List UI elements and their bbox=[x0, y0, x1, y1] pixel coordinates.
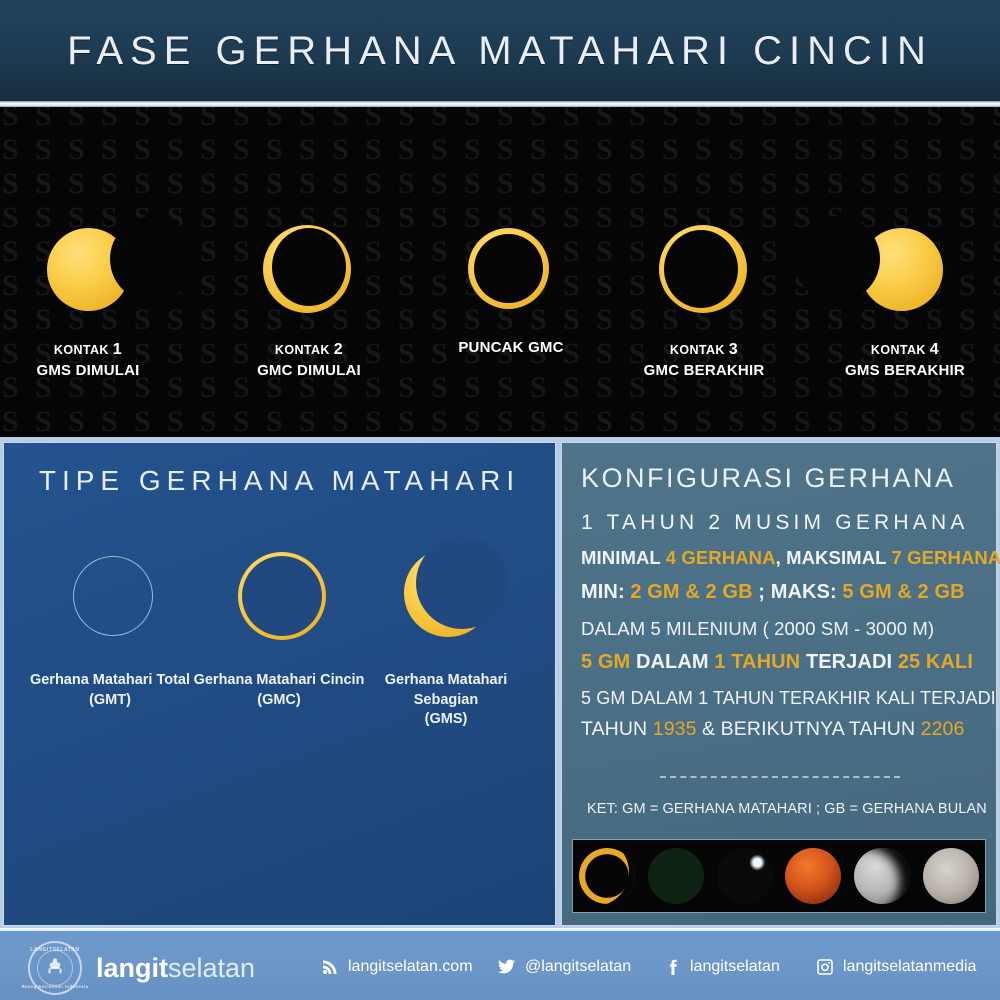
watermark-letter: S bbox=[662, 169, 679, 199]
social-instagram[interactable]: langitselatanmedia bbox=[815, 957, 976, 976]
watermark-letter: S bbox=[827, 169, 844, 199]
eclipse-type-annular-label: Gerhana Matahari Cincin (GMC) bbox=[184, 671, 374, 710]
watermark-letter: S bbox=[596, 135, 613, 165]
annular-eclipse-ring-photo bbox=[648, 848, 704, 904]
watermark-letter: S bbox=[266, 135, 283, 165]
phase-kontak-2: KONTAK 2 bbox=[219, 338, 399, 361]
watermark-letter: S bbox=[728, 407, 745, 437]
full-moon-photo bbox=[923, 848, 979, 904]
watermark-letter: S bbox=[761, 407, 778, 437]
watermark-letter: S bbox=[761, 169, 778, 199]
watermark-letter: S bbox=[992, 107, 1000, 131]
watermark-letter: S bbox=[200, 305, 217, 335]
watermark-letter: S bbox=[827, 135, 844, 165]
header-banner: FASE GERHANA MATAHARI CINCIN bbox=[0, 0, 1000, 101]
watermark-letter: S bbox=[200, 107, 217, 131]
watermark-letter: S bbox=[629, 135, 646, 165]
watermark-letter: S bbox=[860, 107, 877, 131]
watermark-letter: S bbox=[431, 407, 448, 437]
instagram-icon bbox=[815, 957, 834, 976]
watermark-letter: S bbox=[530, 407, 547, 437]
watermark-letter: S bbox=[134, 169, 151, 199]
watermark-letter: S bbox=[959, 107, 976, 131]
phase-sub-2: GMC DIMULAI bbox=[219, 361, 399, 381]
config-segment-plain-3: TERJADI bbox=[800, 651, 898, 673]
watermark-letter: S bbox=[596, 373, 613, 403]
seal-top-text: LANGITSELATAN bbox=[30, 947, 79, 953]
watermark-letter: S bbox=[398, 373, 415, 403]
rss-icon bbox=[320, 957, 339, 976]
watermark-letter: S bbox=[662, 135, 679, 165]
watermark-letter: S bbox=[497, 373, 514, 403]
watermark-letter: S bbox=[926, 135, 943, 165]
config-line-1: MINIMAL 4 GERHANA, MAKSIMAL 7 GERHANA bbox=[581, 547, 1000, 569]
config-segment-plain-2: ; MAKS: bbox=[753, 581, 843, 603]
social-website-label: langitselatan.com bbox=[348, 958, 473, 976]
watermark-letter: S bbox=[497, 135, 514, 165]
watermark-letter: S bbox=[398, 203, 415, 233]
watermark-letter: S bbox=[761, 107, 778, 131]
watermark-letter: S bbox=[992, 135, 1000, 165]
eclipse-type-total-label: Gerhana Matahari Total (GMT) bbox=[15, 671, 205, 710]
annular-ring-thick-left-icon bbox=[219, 212, 399, 332]
social-website[interactable]: langitselatan.com bbox=[320, 957, 473, 976]
watermark-letter: S bbox=[761, 135, 778, 165]
watermark-letter: S bbox=[530, 169, 547, 199]
annular-eclipse-ring-icon bbox=[194, 546, 364, 656]
phase-item-5: KONTAK 4 GMS BERAKHIR bbox=[815, 212, 995, 381]
config-segment-plain-2: & BERIKUTNYA TAHUN bbox=[697, 718, 921, 740]
config-segment-accent-1: 2 GM & 2 GB bbox=[630, 581, 752, 603]
watermark-letter: S bbox=[860, 169, 877, 199]
watermark-letter: S bbox=[794, 107, 811, 131]
config-segment-plain-0: 5 GM DALAM 1 TAHUN TERAKHIR KALI TERJADI bbox=[581, 688, 996, 708]
watermark-letter: S bbox=[101, 169, 118, 199]
phase-item-2: KONTAK 2 GMC DIMULAI bbox=[219, 212, 399, 381]
eclipse-configuration-panel: KONFIGURASI GERHANA 1 TAHUN 2 MUSIM GERH… bbox=[562, 443, 996, 925]
watermark-letter: S bbox=[596, 407, 613, 437]
watermark-letter: S bbox=[893, 169, 910, 199]
watermark-letter: S bbox=[2, 169, 19, 199]
watermark-letter: S bbox=[398, 407, 415, 437]
watermark-letter: S bbox=[398, 305, 415, 335]
config-line-6: TAHUN 1935 & BERIKUTNYA TAHUN 2206 bbox=[581, 718, 964, 741]
watermark-letter: S bbox=[530, 373, 547, 403]
partial-sun-bite-left-icon bbox=[815, 212, 995, 332]
phase-sub-5: GMS BERAKHIR bbox=[815, 361, 995, 381]
watermark-letter: S bbox=[662, 107, 679, 131]
watermark-letter: S bbox=[2, 107, 19, 131]
watermark-letter: S bbox=[233, 407, 250, 437]
social-facebook[interactable]: langitselatan bbox=[662, 957, 780, 976]
watermark-letter: S bbox=[299, 407, 316, 437]
watermark-letter: S bbox=[728, 107, 745, 131]
footer-bar: LANGITSELATAN Ruang Astronomi Indonesia … bbox=[0, 931, 1000, 1000]
watermark-letter: S bbox=[992, 169, 1000, 199]
watermark-letter: S bbox=[167, 407, 184, 437]
watermark-letter: S bbox=[68, 135, 85, 165]
watermark-letter: S bbox=[596, 169, 613, 199]
blood-moon-total-lunar-eclipse-photo bbox=[785, 848, 841, 904]
watermark-letter: S bbox=[2, 135, 19, 165]
annular-ring-thick-right-icon bbox=[614, 212, 794, 332]
watermark-letter: S bbox=[200, 407, 217, 437]
watermark-letter: S bbox=[365, 407, 382, 437]
watermark-letter: S bbox=[332, 107, 349, 131]
phase-item-1: KONTAK 1 GMS DIMULAI bbox=[0, 212, 178, 381]
watermark-letter: S bbox=[101, 135, 118, 165]
watermark-letter: S bbox=[299, 135, 316, 165]
watermark-letter: S bbox=[695, 135, 712, 165]
watermark-letter: S bbox=[464, 135, 481, 165]
watermark-letter: S bbox=[398, 339, 415, 369]
watermark-letter: S bbox=[431, 373, 448, 403]
watermark-letter: S bbox=[959, 169, 976, 199]
config-segment-accent-0: 5 GM bbox=[581, 651, 630, 673]
watermark-letter: S bbox=[398, 271, 415, 301]
watermark-letter: S bbox=[629, 407, 646, 437]
watermark-letter: S bbox=[398, 135, 415, 165]
config-segment-plain-0: TAHUN bbox=[581, 718, 653, 740]
watermark-letter: S bbox=[365, 135, 382, 165]
watermark-letter: S bbox=[629, 169, 646, 199]
watermark-letter: S bbox=[860, 407, 877, 437]
watermark-letter: S bbox=[794, 135, 811, 165]
watermark-letter: S bbox=[200, 237, 217, 267]
config-segment-accent-1: 4 GERHANA bbox=[666, 547, 776, 568]
watermark-letter: S bbox=[563, 407, 580, 437]
phase-kontak-5: KONTAK 4 bbox=[815, 338, 995, 361]
watermark-letter: S bbox=[893, 407, 910, 437]
watermark-letter: S bbox=[860, 135, 877, 165]
config-segment-plain-0: DALAM 5 MILENIUM ( 2000 SM - 3000 M) bbox=[581, 618, 934, 639]
total-eclipse-diamond-ring-photo bbox=[717, 848, 773, 904]
watermark-letter: S bbox=[926, 107, 943, 131]
watermark-letter: S bbox=[200, 339, 217, 369]
watermark-letter: S bbox=[728, 135, 745, 165]
infographic-page: FASE GERHANA MATAHARI CINCIN SSSSSSSSSSS… bbox=[0, 0, 1000, 1000]
watermark-letter: S bbox=[200, 373, 217, 403]
watermark-letter: S bbox=[266, 407, 283, 437]
watermark-letter: S bbox=[794, 305, 811, 335]
config-line-5: 5 GM DALAM 1 TAHUN TERAKHIR KALI TERJADI bbox=[581, 688, 996, 709]
watermark-letter: S bbox=[794, 407, 811, 437]
phase-item-3: PUNCAK GMC bbox=[421, 212, 601, 358]
watermark-letter: S bbox=[794, 373, 811, 403]
brand-wordmark: langitselatan bbox=[96, 955, 255, 982]
watermark-letter: S bbox=[794, 169, 811, 199]
partial-lunar-eclipse-photo bbox=[854, 848, 910, 904]
eclipse-type-partial bbox=[361, 546, 531, 656]
watermark-letter: S bbox=[134, 135, 151, 165]
watermark-letter: S bbox=[266, 107, 283, 131]
watermark-letter: S bbox=[563, 373, 580, 403]
langitselatan-seal-logo: LANGITSELATAN Ruang Astronomi Indonesia bbox=[28, 941, 82, 995]
watermark-letter: S bbox=[926, 407, 943, 437]
config-segment-accent-2: 1 TAHUN bbox=[714, 651, 800, 673]
watermark-letter: S bbox=[332, 169, 349, 199]
watermark-letter: S bbox=[167, 107, 184, 131]
config-segment-plain-0: MIN: bbox=[581, 581, 630, 603]
watermark-letter: S bbox=[431, 169, 448, 199]
config-line-4: 5 GM DALAM 1 TAHUN TERJADI 25 KALI bbox=[581, 651, 973, 674]
eclipse-type-annular bbox=[194, 546, 364, 656]
watermark-letter: S bbox=[431, 107, 448, 131]
watermark-letter: S bbox=[398, 237, 415, 267]
watermark-letter: S bbox=[497, 169, 514, 199]
watermark-letter: S bbox=[200, 135, 217, 165]
watermark-letter: S bbox=[68, 407, 85, 437]
watermark-letter: S bbox=[398, 107, 415, 131]
watermark-letter: S bbox=[530, 107, 547, 131]
watermark-letter: S bbox=[233, 107, 250, 131]
phase-sub-1: GMS DIMULAI bbox=[0, 361, 178, 381]
watermark-letter: S bbox=[266, 169, 283, 199]
watermark-letter: S bbox=[332, 407, 349, 437]
eclipse-phases-section: SSSSSSSSSSSSSSSSSSSSSSSSSSSSSSSSSSSSSSSS… bbox=[0, 107, 1000, 437]
eclipse-type-total bbox=[25, 546, 195, 656]
watermark-letter: S bbox=[200, 271, 217, 301]
total-eclipse-outline-icon bbox=[25, 546, 195, 656]
phase-kontak-1: KONTAK 1 bbox=[0, 338, 178, 361]
watermark-letter: S bbox=[134, 107, 151, 131]
config-segment-accent-3: 7 GERHANA bbox=[891, 547, 1000, 568]
seal-inner-ring bbox=[37, 950, 73, 986]
watermark-letter: S bbox=[794, 339, 811, 369]
watermark-letter: S bbox=[398, 169, 415, 199]
watermark-letter: S bbox=[464, 169, 481, 199]
watermark-letter: S bbox=[101, 107, 118, 131]
watermark-letter: S bbox=[959, 135, 976, 165]
right-panel-subtitle: 1 TAHUN 2 MUSIM GERHANA bbox=[581, 511, 969, 535]
watermark-letter: S bbox=[167, 135, 184, 165]
config-segment-plain-1: DALAM bbox=[630, 651, 714, 673]
watermark-letter: S bbox=[101, 407, 118, 437]
watermark-letter: S bbox=[827, 407, 844, 437]
social-twitter[interactable]: @langitselatan bbox=[497, 957, 631, 976]
watermark-letter: S bbox=[200, 203, 217, 233]
brand-block[interactable]: LANGITSELATAN Ruang Astronomi Indonesia … bbox=[28, 941, 255, 995]
annular-eclipse-crescent-photo bbox=[579, 848, 635, 904]
watermark-letter: S bbox=[497, 407, 514, 437]
watermark-letter: S bbox=[464, 407, 481, 437]
partial-sun-bite-right-icon bbox=[0, 212, 178, 332]
config-line-3: DALAM 5 MILENIUM ( 2000 SM - 3000 M) bbox=[581, 618, 934, 640]
watermark-letter: S bbox=[728, 169, 745, 199]
watermark-letter: S bbox=[695, 169, 712, 199]
watermark-letter: S bbox=[497, 107, 514, 131]
watermark-letter: S bbox=[233, 169, 250, 199]
watermark-letter: S bbox=[893, 135, 910, 165]
watermark-letter: S bbox=[563, 107, 580, 131]
config-segment-accent-4: 25 KALI bbox=[898, 651, 973, 673]
watermark-letter: S bbox=[299, 169, 316, 199]
partial-eclipse-crescent-icon bbox=[361, 546, 531, 656]
facebook-icon bbox=[662, 957, 681, 976]
watermark-letter: S bbox=[365, 107, 382, 131]
eclipse-type-partial-label: Gerhana Matahari Sebagian (GMS) bbox=[351, 671, 541, 730]
watermark-letter: S bbox=[563, 135, 580, 165]
page-title: FASE GERHANA MATAHARI CINCIN bbox=[67, 31, 933, 71]
left-panel-title: TIPE GERHANA MATAHARI bbox=[4, 465, 555, 497]
watermark-letter: S bbox=[563, 169, 580, 199]
watermark-letter: S bbox=[464, 373, 481, 403]
social-twitter-label: @langitselatan bbox=[525, 958, 631, 976]
config-segment-accent-1: 1935 bbox=[653, 718, 697, 740]
watermark-letter: S bbox=[959, 407, 976, 437]
watermark-letter: S bbox=[695, 107, 712, 131]
watermark-letter: S bbox=[134, 407, 151, 437]
watermark-letter: S bbox=[464, 107, 481, 131]
watermark-letter: S bbox=[332, 135, 349, 165]
watermark-letter: S bbox=[926, 169, 943, 199]
watermark-letter: S bbox=[35, 107, 52, 131]
annular-ring-even-icon bbox=[421, 212, 601, 332]
watermark-letter: S bbox=[233, 135, 250, 165]
watermark-letter: S bbox=[35, 407, 52, 437]
watermark-letter: S bbox=[662, 407, 679, 437]
config-segment-accent-3: 2206 bbox=[921, 718, 965, 740]
seal-bottom-text: Ruang Astronomi Indonesia bbox=[22, 985, 89, 990]
watermark-letter: S bbox=[992, 407, 1000, 437]
watermark-letter: S bbox=[695, 407, 712, 437]
eclipse-types-panel: TIPE GERHANA MATAHARI Gerhana Matahari T… bbox=[4, 443, 555, 925]
watermark-letter: S bbox=[629, 107, 646, 131]
watermark-letter: S bbox=[68, 107, 85, 131]
social-facebook-label: langitselatan bbox=[690, 958, 780, 976]
right-panel-divider bbox=[660, 776, 900, 778]
brand-bold: langit bbox=[96, 953, 168, 983]
watermark-letter: S bbox=[167, 169, 184, 199]
watermark-letter: S bbox=[893, 107, 910, 131]
social-instagram-label: langitselatanmedia bbox=[843, 958, 976, 976]
config-segment-plain-0: MINIMAL bbox=[581, 547, 666, 568]
watermark-letter: S bbox=[200, 169, 217, 199]
watermark-letter: S bbox=[530, 135, 547, 165]
watermark-letter: S bbox=[365, 169, 382, 199]
watermark-letter: S bbox=[431, 135, 448, 165]
watermark-letter: S bbox=[35, 169, 52, 199]
config-line-2: MIN: 2 GM & 2 GB ; MAKS: 5 GM & 2 GB bbox=[581, 581, 965, 604]
phase-kontak-4: KONTAK 3 bbox=[614, 338, 794, 361]
eclipse-photo-strip bbox=[573, 840, 985, 912]
legend-note: KET: GM = GERHANA MATAHARI ; GB = GERHAN… bbox=[587, 801, 987, 817]
brand-light: selatan bbox=[168, 953, 255, 983]
watermark-letter: S bbox=[2, 407, 19, 437]
watermark-letter: S bbox=[827, 107, 844, 131]
config-segment-accent-3: 5 GM & 2 GB bbox=[842, 581, 964, 603]
watermark-letter: S bbox=[35, 135, 52, 165]
watermark-letter: S bbox=[596, 107, 613, 131]
watermark-letter: S bbox=[299, 107, 316, 131]
phase-item-4: KONTAK 3 GMC BERAKHIR bbox=[614, 212, 794, 381]
twitter-icon bbox=[497, 957, 516, 976]
watermark-letter: S bbox=[68, 169, 85, 199]
right-panel-title: KONFIGURASI GERHANA bbox=[581, 463, 956, 494]
phase-sub-3: PUNCAK GMC bbox=[421, 338, 601, 358]
phase-sub-4: GMC BERAKHIR bbox=[614, 361, 794, 381]
seal-rider-emblem-icon bbox=[38, 951, 72, 985]
config-segment-plain-2: , MAKSIMAL bbox=[776, 547, 892, 568]
